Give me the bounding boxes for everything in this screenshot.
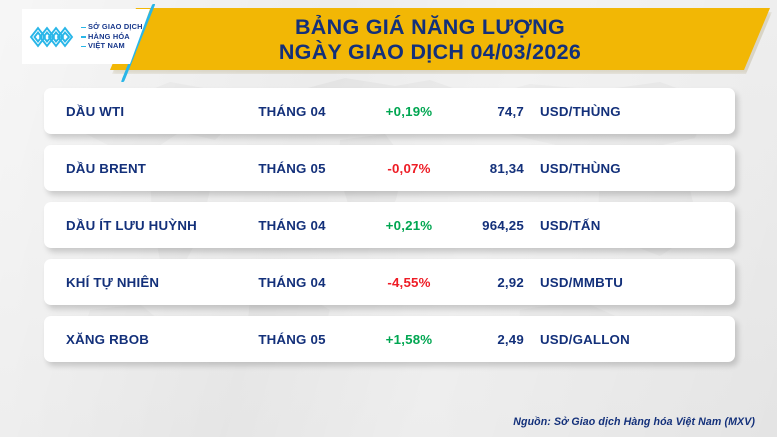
table-row[interactable]: KHÍ TỰ NHIÊNTHÁNG 04-4,55%2,92USD/MMBTU [44,259,735,305]
logo-dash-icon-2 [81,36,86,37]
commodity-name: DẦU ÍT LƯU HUỲNH [66,218,197,233]
commodity-name: DẦU WTI [66,104,124,119]
table-row[interactable]: DẦU ÍT LƯU HUỲNHTHÁNG 04+0,21%964,25USD/… [44,202,735,248]
price-value: 74,7 [464,104,524,119]
price-unit: USD/MMBTU [540,275,623,290]
page-title: BẢNG GIÁ NĂNG LƯỢNG NGÀY GIAO DỊCH 04/03… [150,12,710,68]
mxv-chevron-maze-icon [28,20,78,54]
brand-logo: SỞ GIAO DỊCH HÀNG HÓA VIỆT NAM [22,9,150,64]
logo-line-1: SỞ GIAO DỊCH [88,22,143,31]
price-unit: USD/TẤN [540,218,601,233]
price-value: 81,34 [464,161,524,176]
title-line-2: NGÀY GIAO DỊCH 04/03/2026 [279,40,581,65]
logo-line-2: HÀNG HÓA [88,32,130,41]
price-unit: USD/THÙNG [540,161,621,176]
change-percent: -0,07% [354,161,464,176]
logo-line-3: VIỆT NAM [88,41,125,50]
commodity-name: DẦU BRENT [66,161,146,176]
contract-month: THÁNG 04 [237,218,347,233]
logo-dash-icon [81,27,86,28]
table-row[interactable]: XĂNG RBOBTHÁNG 05+1,58%2,49USD/GALLON [44,316,735,362]
logo-dash-icon-3 [81,46,86,47]
change-percent: +1,58% [354,332,464,347]
change-percent: -4,55% [354,275,464,290]
change-percent: +0,19% [354,104,464,119]
contract-month: THÁNG 05 [237,332,347,347]
page-header: SỞ GIAO DỊCH HÀNG HÓA VIỆT NAM BẢNG GIÁ … [0,0,777,88]
price-table: DẦU WTITHÁNG 04+0,19%74,7USD/THÙNGDẦU BR… [0,88,777,373]
table-row[interactable]: DẦU WTITHÁNG 04+0,19%74,7USD/THÙNG [44,88,735,134]
contract-month: THÁNG 05 [237,161,347,176]
contract-month: THÁNG 04 [237,275,347,290]
commodity-name: XĂNG RBOB [66,332,149,347]
price-value: 964,25 [464,218,524,233]
brand-logo-text: SỞ GIAO DỊCH HÀNG HÓA VIỆT NAM [81,22,143,50]
title-line-1: BẢNG GIÁ NĂNG LƯỢNG [295,15,565,40]
commodity-name: KHÍ TỰ NHIÊN [66,275,159,290]
price-value: 2,49 [464,332,524,347]
price-unit: USD/THÙNG [540,104,621,119]
table-row[interactable]: DẦU BRENTTHÁNG 05-0,07%81,34USD/THÙNG [44,145,735,191]
price-unit: USD/GALLON [540,332,630,347]
change-percent: +0,21% [354,218,464,233]
source-note: Nguồn: Sở Giao dịch Hàng hóa Việt Nam (M… [513,416,755,428]
contract-month: THÁNG 04 [237,104,347,119]
price-value: 2,92 [464,275,524,290]
